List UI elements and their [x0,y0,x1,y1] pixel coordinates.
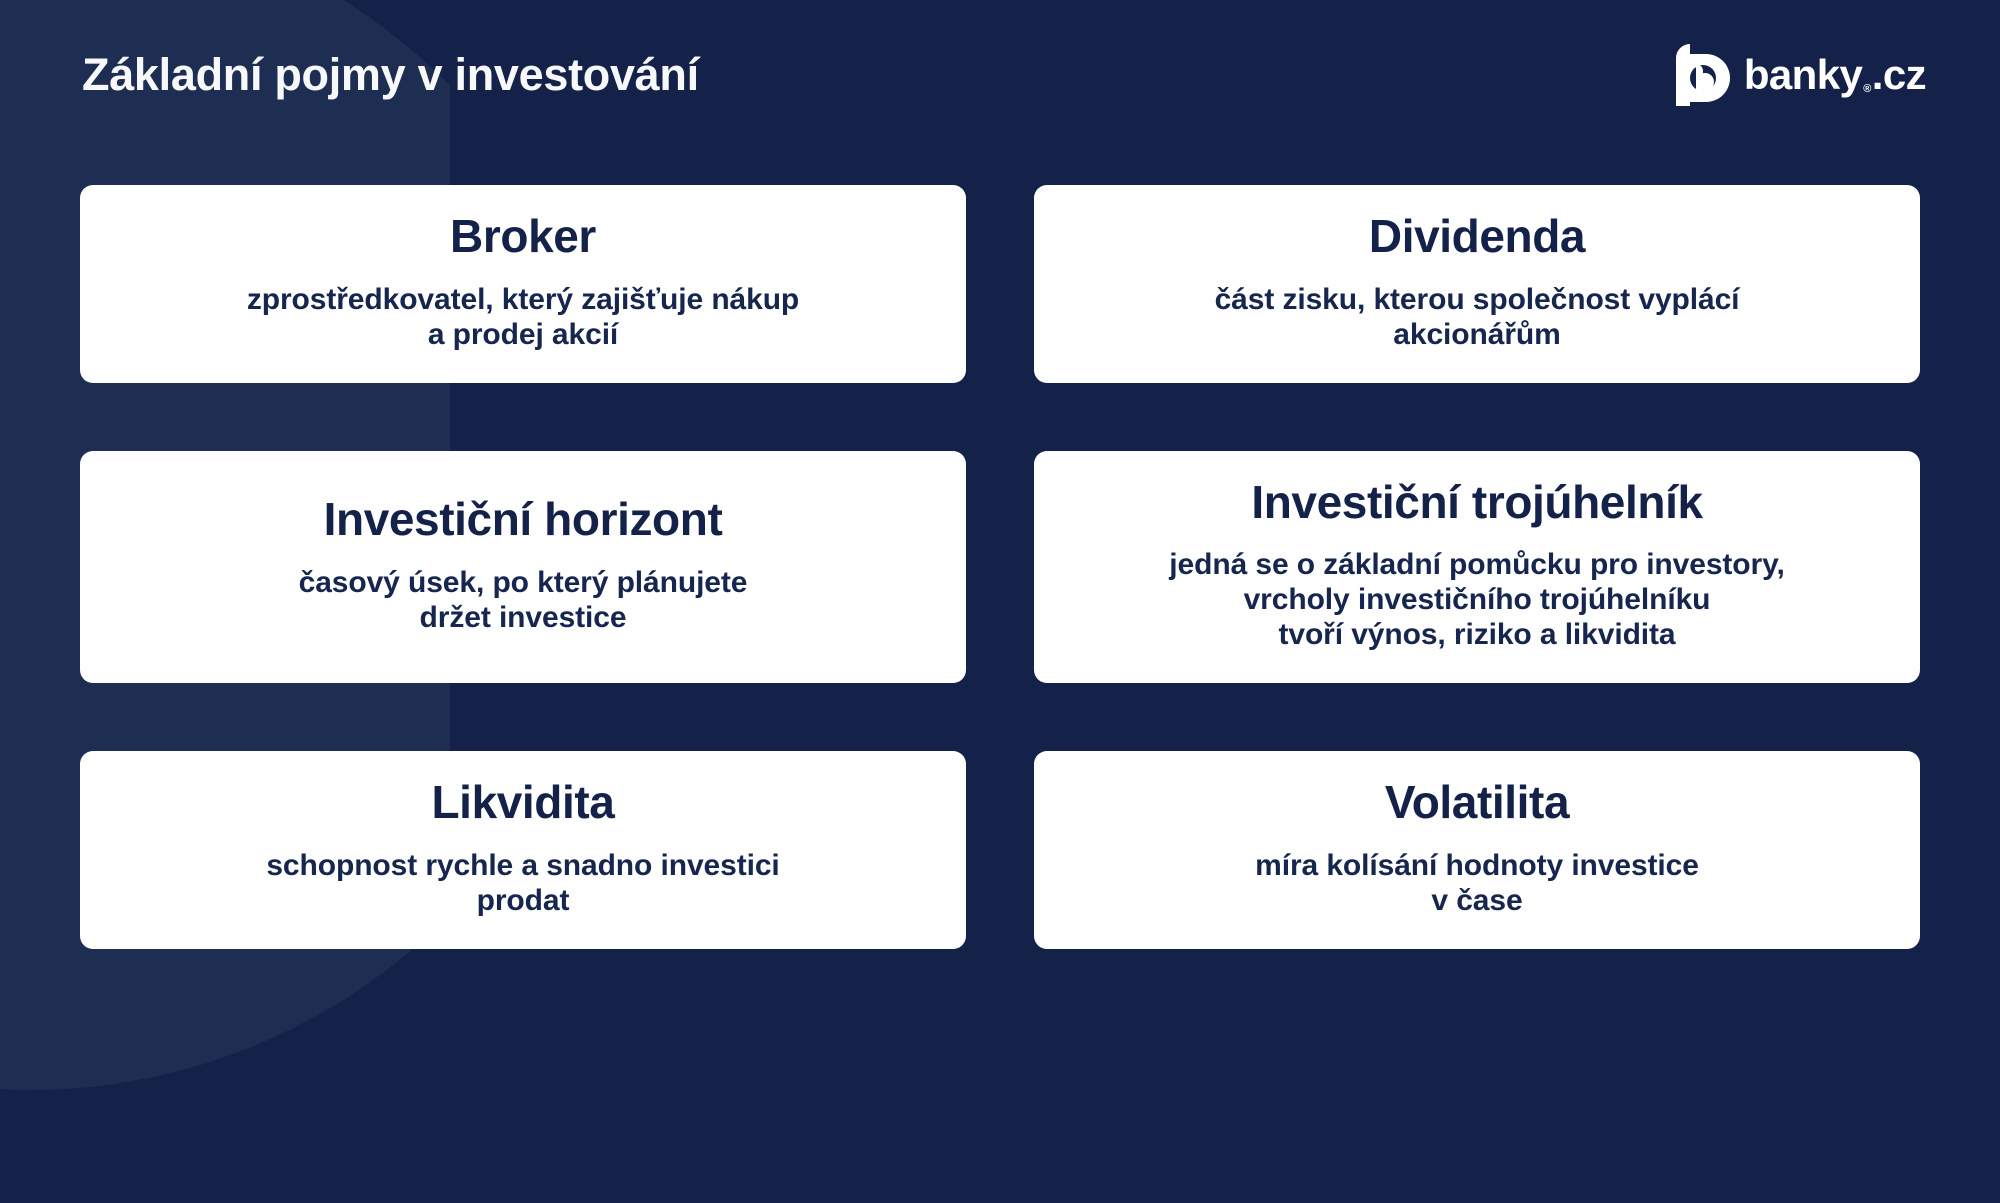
brand-logo[interactable]: banky®.cz [1676,44,1926,106]
card-title: Dividenda [1369,212,1585,262]
logo-wordmark: banky®.cz [1744,54,1926,96]
term-card-dividenda[interactable]: Dividenda část zisku, kterou společnost … [1034,185,1920,383]
card-description: časový úsek, po který plánujete držet in… [299,565,748,635]
logo-tld: .cz [1872,54,1926,96]
card-description: míra kolísání hodnoty investice v čase [1255,848,1699,918]
card-description-line: časový úsek, po který plánujete [299,565,748,600]
card-description: schopnost rychle a snadno investici prod… [266,848,779,918]
card-title: Investiční trojúhelník [1251,478,1702,528]
card-title: Volatilita [1385,778,1569,828]
logo-word: banky [1744,54,1862,96]
card-description-line: tvoří výnos, riziko a likvidita [1169,617,1784,652]
card-title: Likvidita [431,778,614,828]
term-card-likvidita[interactable]: Likvidita schopnost rychle a snadno inve… [80,751,966,949]
card-description: zprostředkovatel, který zajišťuje nákup … [247,282,799,352]
card-description-line: držet investice [299,600,748,635]
card-description-line: prodat [266,883,779,918]
card-description: část zisku, kterou společnost vyplácí ak… [1215,282,1740,352]
card-description-line: v čase [1255,883,1699,918]
registered-mark-icon: ® [1863,84,1871,95]
card-description-line: jedná se o základní pomůcku pro investor… [1169,547,1784,582]
card-title: Broker [450,212,596,262]
term-card-broker[interactable]: Broker zprostředkovatel, který zajišťuje… [80,185,966,383]
banky-b-mark-icon [1676,44,1730,106]
card-description-line: část zisku, kterou společnost vyplácí [1215,282,1740,317]
infographic-root: Základní pojmy v investování banky®.cz B… [0,0,2000,1203]
header: Základní pojmy v investování banky®.cz [0,0,2000,150]
card-description: jedná se o základní pomůcku pro investor… [1169,547,1784,652]
page-title: Základní pojmy v investování [82,49,699,101]
card-description-line: akcionářům [1215,317,1740,352]
term-card-investicni-trojuhelnik[interactable]: Investiční trojúhelník jedná se o základ… [1034,451,1920,683]
card-description-line: a prodej akcií [247,317,799,352]
card-title: Investiční horizont [324,495,723,545]
term-card-volatilita[interactable]: Volatilita míra kolísání hodnoty investi… [1034,751,1920,949]
card-description-line: schopnost rychle a snadno investici [266,848,779,883]
term-card-investicni-horizont[interactable]: Investiční horizont časový úsek, po kter… [80,451,966,683]
term-card-grid: Broker zprostředkovatel, který zajišťuje… [80,185,1920,949]
card-description-line: míra kolísání hodnoty investice [1255,848,1699,883]
card-description-line: zprostředkovatel, který zajišťuje nákup [247,282,799,317]
card-description-line: vrcholy investičního trojúhelníku [1169,582,1784,617]
